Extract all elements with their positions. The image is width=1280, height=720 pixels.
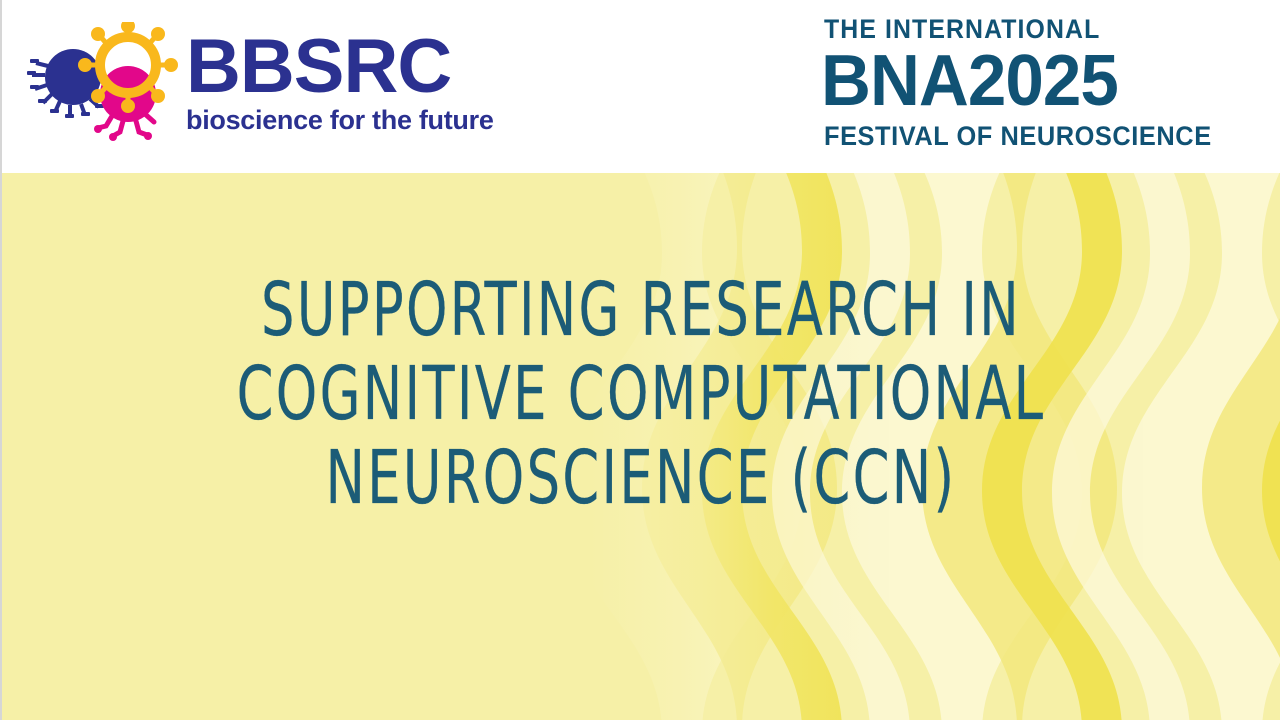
- title-line-3: NEUROSCIENCE (CCN): [130, 428, 1151, 527]
- bbsrc-wordmark: BBSRC bioscience for the future: [186, 31, 494, 134]
- bna-line-main: BNA2025: [821, 45, 1118, 118]
- bbsrc-name: BBSRC: [186, 31, 451, 104]
- bbsrc-logo: BBSRC bioscience for the future: [24, 22, 494, 142]
- bna-logo: THE INTERNATIONAL BNA2025 FESTIVAL OF NE…: [824, 14, 1236, 151]
- bbsrc-virus-cells-icon: [24, 22, 182, 142]
- header-bar: BBSRC bioscience for the future THE INTE…: [2, 0, 1280, 173]
- slide-root: SUPPORTING RESEARCH IN COGNITIVE COMPUTA…: [0, 0, 1280, 720]
- page-title: SUPPORTING RESEARCH IN COGNITIVE COMPUTA…: [2, 268, 1280, 519]
- bna-line-top: THE INTERNATIONAL: [824, 14, 1203, 44]
- bna-line-bottom: FESTIVAL OF NEUROSCIENCE: [824, 121, 1212, 151]
- bbsrc-tagline: bioscience for the future: [186, 106, 494, 134]
